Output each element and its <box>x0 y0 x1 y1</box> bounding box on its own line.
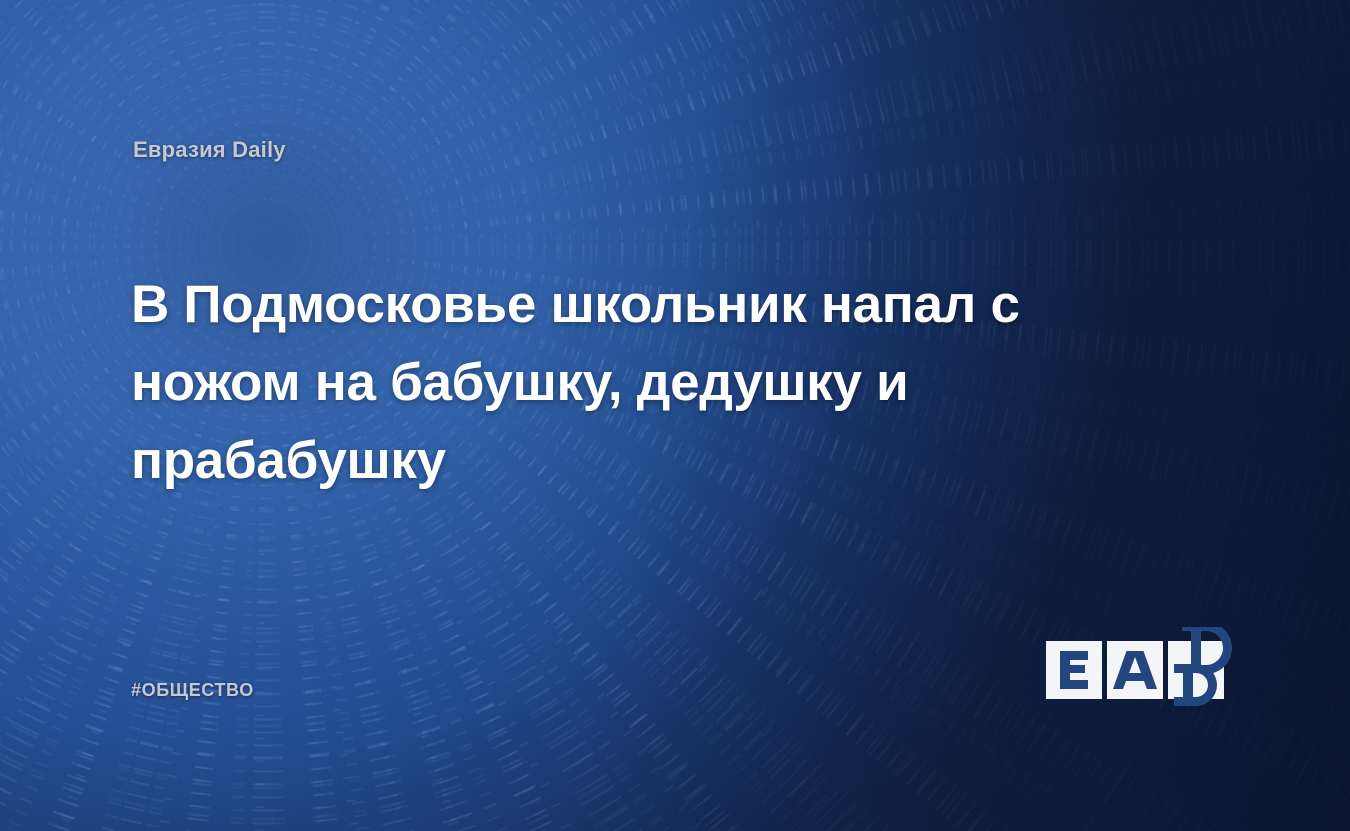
card-content: Евразия Daily В Подмосковье школьник нап… <box>0 0 1350 831</box>
category-tag[interactable]: #ОБЩЕСТВО <box>131 680 254 701</box>
page-title: В Подмосковье школьник напал с ножом на … <box>131 266 1031 500</box>
logo-tile-a <box>1107 641 1163 699</box>
eadaily-logo[interactable] <box>1046 627 1232 707</box>
logo-letter-e-icon <box>1060 651 1088 689</box>
brand-title: Евразия Daily <box>133 137 286 163</box>
news-cover-card: Евразия Daily В Подмосковье школьник нап… <box>0 0 1350 831</box>
